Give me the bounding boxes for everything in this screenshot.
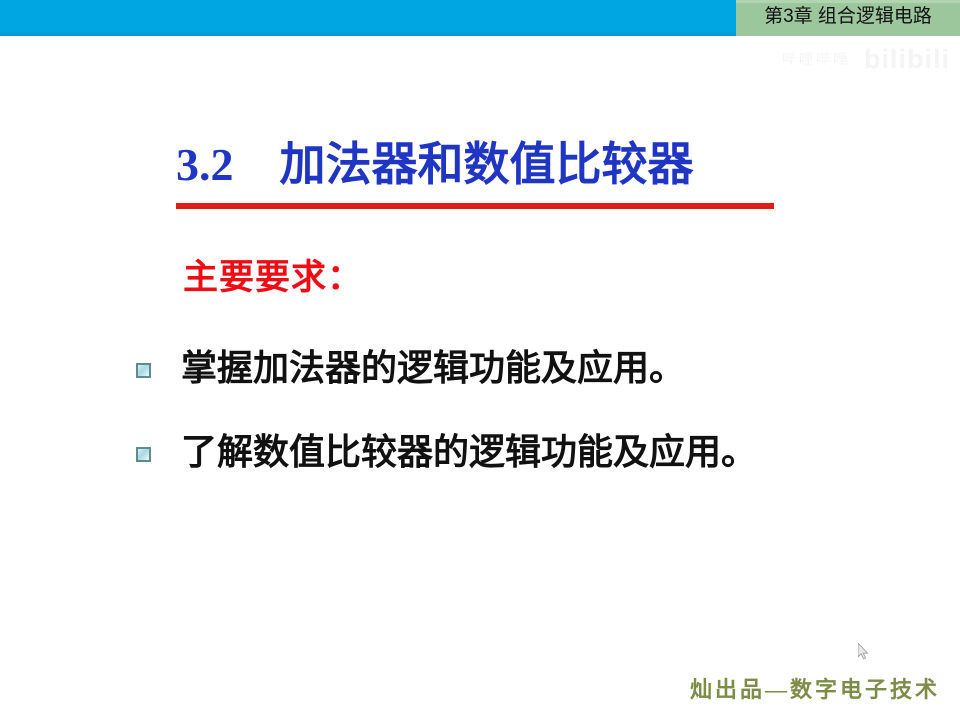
chapter-title: 第3章 组合逻辑电路 <box>736 0 960 36</box>
page-title-number: 3.2 <box>176 139 234 190</box>
list-item: 掌握加法器的逻辑功能及应用。 <box>136 344 936 392</box>
page-title-text: 加法器和数值比较器 <box>280 138 694 190</box>
list-item: 了解数值比较器的逻辑功能及应用。 <box>136 428 936 476</box>
slide-header-band: 第3章 组合逻辑电路 <box>0 0 960 36</box>
objectives-list: 掌握加法器的逻辑功能及应用。 了解数值比较器的逻辑功能及应用。 <box>136 344 936 512</box>
author-watermark: 灿出品—数字电子技术 <box>680 672 950 704</box>
presentation-slide: 第3章 组合逻辑电路 哔哩哔哩bilibili 3.2加法器和数值比较器 主要要… <box>0 0 960 720</box>
bilibili-watermark-brand: bilibili <box>864 44 950 74</box>
mouse-pointer-icon <box>858 643 870 661</box>
bilibili-watermark: 哔哩哔哩bilibili <box>700 42 950 76</box>
list-item-label: 了解数值比较器的逻辑功能及应用。 <box>181 428 757 476</box>
header-cyan-bar <box>0 0 736 36</box>
page-title: 3.2加法器和数值比较器 <box>176 132 796 196</box>
section-subtitle: 主要要求： <box>183 256 363 300</box>
title-underline-rule <box>176 203 774 209</box>
list-item-label: 掌握加法器的逻辑功能及应用。 <box>181 344 685 392</box>
square-bullet-icon <box>136 447 151 462</box>
bilibili-watermark-sub: 哔哩哔哩 <box>782 51 850 67</box>
header-cyan-shadow <box>0 32 736 36</box>
square-bullet-icon <box>136 363 151 378</box>
